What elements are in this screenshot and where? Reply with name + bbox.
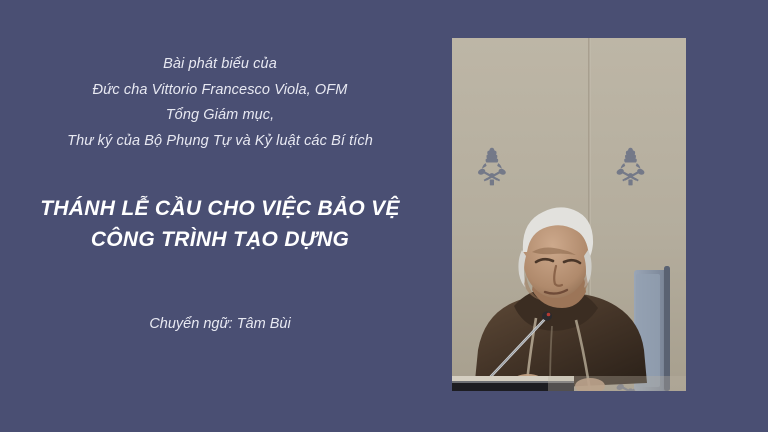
credit-line-1: Bài phát biểu của (0, 52, 440, 78)
credit-line-4: Thư ký của Bộ Phụng Tự và Kỷ luật các Bí… (0, 129, 440, 155)
presentation-slide: Bài phát biểu của Đức cha Vittorio Franc… (0, 0, 768, 432)
title-line-1: THÁNH LỄ CẦU CHO VIỆC BẢO VỆ (0, 193, 440, 224)
title-line-2: CÔNG TRÌNH TẠO DỰNG (0, 224, 440, 255)
speaker-photo-image (452, 38, 686, 391)
translator-credit-block: Chuyển ngữ: Tâm Bùi (0, 313, 440, 335)
text-column: Bài phát biểu của Đức cha Vittorio Franc… (0, 0, 440, 432)
page-title: THÁNH LỄ CẦU CHO VIỆC BẢO VỆ CÔNG TRÌNH … (0, 193, 440, 255)
translator-credit: Chuyển ngữ: Tâm Bùi (0, 313, 440, 335)
credit-line-2: Đức cha Vittorio Francesco Viola, OFM (0, 78, 440, 104)
speaker-photo (452, 38, 686, 391)
credit-line-3: Tổng Giám mục, (0, 103, 440, 129)
speaker-credit-block: Bài phát biểu của Đức cha Vittorio Franc… (0, 52, 440, 154)
podium-desk (452, 376, 686, 391)
